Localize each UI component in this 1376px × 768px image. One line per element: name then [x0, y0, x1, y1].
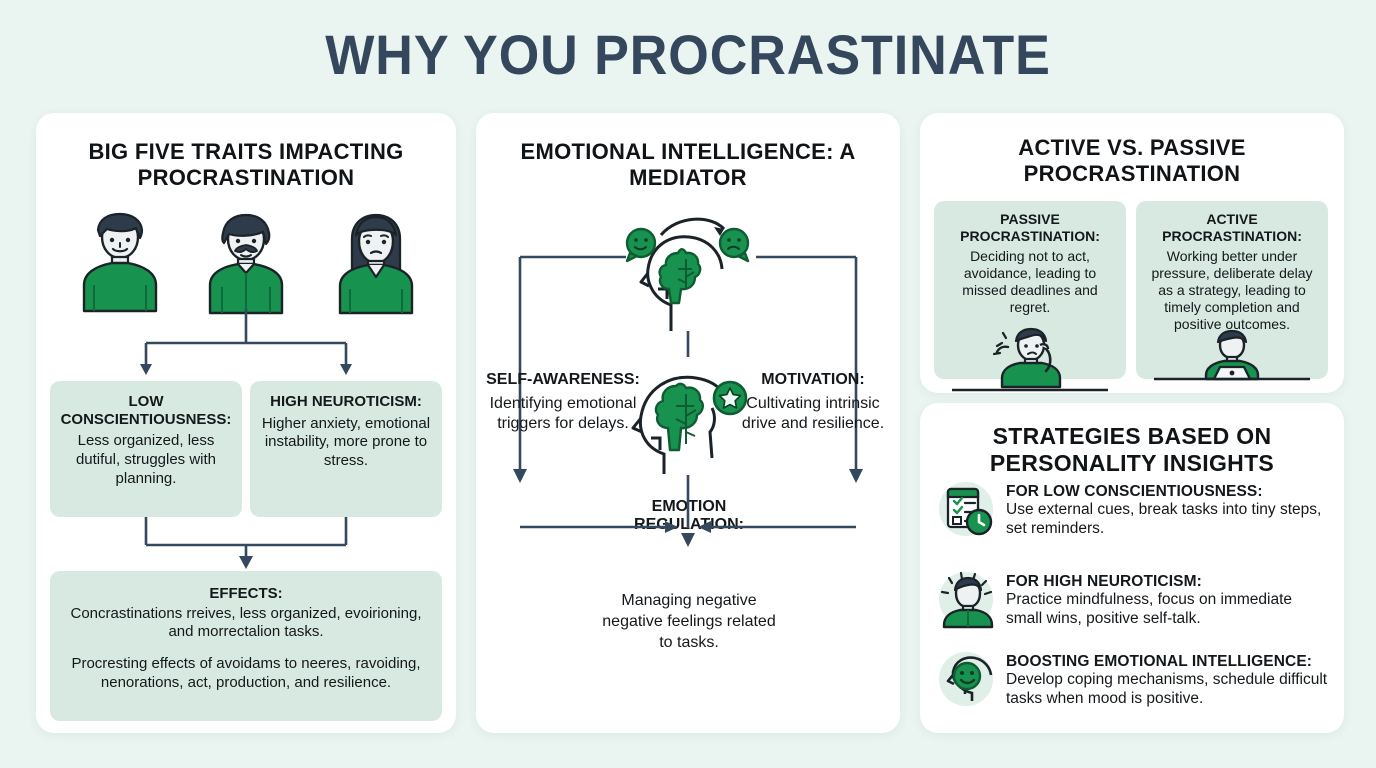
- box-heading: PASSIVE PROCRASTINATION:: [942, 211, 1118, 244]
- panel-strategies: STRATEGIES BASED ON PERSONALITY INSIGHTS…: [920, 403, 1344, 733]
- box-body-2: Procresting effects of avoidams to neere…: [66, 655, 426, 693]
- mindful-person-icon: [938, 571, 994, 627]
- label-body: Cultivating intrinsic drive and resilien…: [734, 394, 892, 433]
- label-heading: MOTIVATION:: [734, 371, 892, 389]
- panel-title-active-vs-passive: ACTIVE VS. PASSIVE PROCRASTINATION: [920, 113, 1344, 186]
- label-body: Identifying emotional triggers for delay…: [484, 394, 642, 433]
- connector-merge-bottom: [36, 517, 456, 573]
- box-effects: EFFECTS: Concrastinations rreives, less …: [50, 571, 442, 721]
- avatar-group: [36, 209, 456, 319]
- box-heading: HIGH NEUROTICISM:: [260, 393, 432, 411]
- checklist-clock-icon: [938, 481, 994, 537]
- box-heading: EFFECTS:: [66, 585, 426, 603]
- connector-stem-center: [676, 331, 700, 361]
- label-heading: SELF-AWARENESS:: [484, 371, 642, 389]
- connector-converge-bottom: [476, 475, 900, 585]
- head-smiley-icon: [938, 651, 994, 707]
- box-heading: LOW CONSCIENTIOUSNESS:: [60, 393, 232, 428]
- avatar-worried-woman: [328, 209, 424, 313]
- box-high-neuroticism: HIGH NEUROTICISM: Higher anxiety, emotio…: [250, 381, 442, 517]
- box-heading: ACTIVE PROCRASTINATION:: [1144, 211, 1320, 244]
- label-self-awareness: SELF-AWARENESS: Identifying emotional tr…: [484, 371, 642, 433]
- box-active-procrastination: ACTIVE PROCRASTINATION: Working better u…: [1136, 201, 1328, 379]
- person-laptop-icon: [1136, 331, 1328, 379]
- connector-split-top: [36, 309, 456, 383]
- panel-active-vs-passive: ACTIVE VS. PASSIVE PROCRASTINATION PASSI…: [920, 113, 1344, 393]
- box-body: Higher anxiety, emotional instability, m…: [260, 415, 432, 471]
- panel-title-emotional-intelligence: EMOTIONAL INTELLIGENCE: A MEDIATOR: [476, 113, 900, 190]
- avatar-mustache-man: [198, 209, 294, 313]
- strategy-heading: FOR LOW CONSCIENTIOUSNESS:: [1006, 483, 1330, 501]
- page-title: WHY YOU PROCRASTINATE: [48, 22, 1328, 87]
- strategy-body: Use external cues, break tasks into tiny…: [1006, 501, 1330, 539]
- box-low-conscientiousness: LOW CONSCIENTIOUSNESS: Less organized, l…: [50, 381, 242, 517]
- panel-title-strategies: STRATEGIES BASED ON PERSONALITY INSIGHTS: [920, 403, 1344, 476]
- strategy-text: FOR LOW CONSCIENTIOUSNESS: Use external …: [1006, 481, 1330, 539]
- strategy-item: BOOSTING EMOTIONAL INTELLIGENCE: Develop…: [938, 651, 1330, 709]
- box-body: Deciding not to act, avoidance, leading …: [942, 248, 1118, 316]
- strategy-item: FOR LOW CONSCIENTIOUSNESS: Use external …: [938, 481, 1330, 539]
- strategy-heading: BOOSTING EMOTIONAL INTELLIGENCE:: [1006, 653, 1330, 671]
- strategy-item: FOR HIGH NEUROTICISM: Practice mindfulne…: [938, 571, 1330, 629]
- box-body: Less organized, less dutiful, struggles …: [60, 432, 232, 488]
- label-outcome: Managing negative negative feelings rela…: [596, 591, 782, 653]
- strategy-text: FOR HIGH NEUROTICISM: Practice mindfulne…: [1006, 571, 1330, 629]
- label-motivation: MOTIVATION: Cultivating intrinsic drive …: [734, 371, 892, 433]
- box-body: Working better under pressure, deliberat…: [1144, 248, 1320, 333]
- strategy-text: BOOSTING EMOTIONAL INTELLIGENCE: Develop…: [1006, 651, 1330, 709]
- strategy-body: Develop coping mechanisms, schedule diff…: [1006, 671, 1330, 709]
- box-passive-procrastination: PASSIVE PROCRASTINATION: Deciding not to…: [934, 201, 1126, 379]
- panel-title-big-five: BIG FIVE TRAITS IMPACTING PROCRASTINATIO…: [36, 113, 456, 190]
- box-body-1: Concrastinations rreives, less organized…: [66, 605, 426, 643]
- strategy-body: Practice mindfulness, focus on immediate…: [1006, 591, 1330, 629]
- head-brain-star-icon: [624, 356, 756, 476]
- avatar-young-man: [72, 209, 168, 313]
- infographic-page: WHY YOU PROCRASTINATE BIG FIVE TRAITS IM…: [0, 0, 1376, 768]
- panel-big-five-traits: BIG FIVE TRAITS IMPACTING PROCRASTINATIO…: [36, 113, 456, 733]
- confused-person-icon: [934, 331, 1126, 379]
- strategy-heading: FOR HIGH NEUROTICISM:: [1006, 573, 1330, 591]
- panel-emotional-intelligence: EMOTIONAL INTELLIGENCE: A MEDIATOR: [476, 113, 900, 733]
